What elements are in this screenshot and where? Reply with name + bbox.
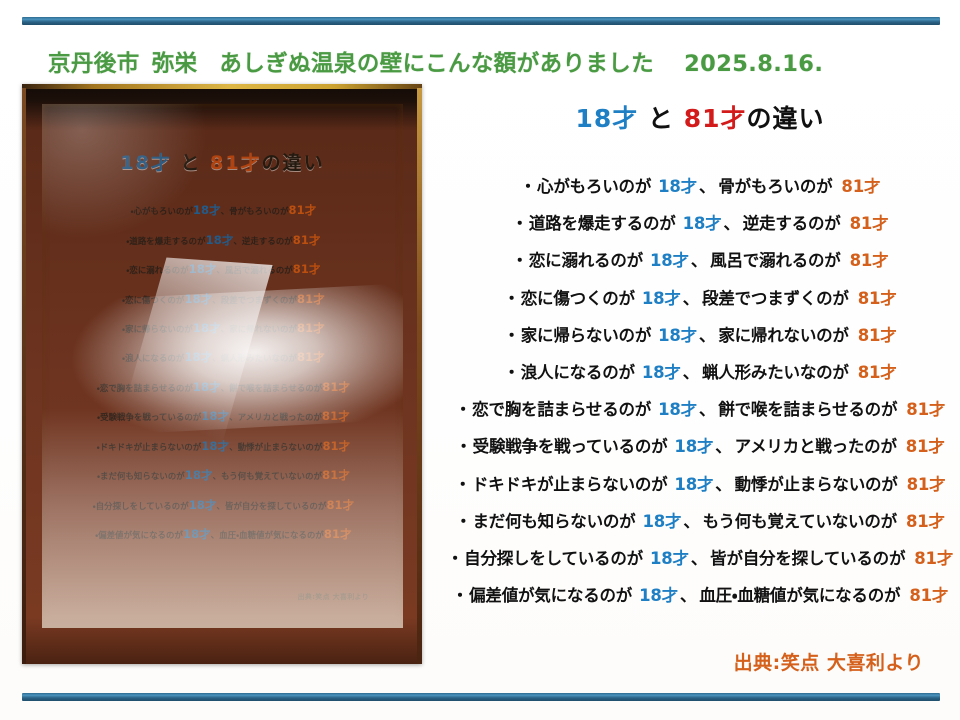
poster-line-row: ・道路を爆走するのが18才、逆走するのが81才 [54, 225, 393, 253]
poster-line-row: ・浪人になるのが18才、蝋人形みたいなのが81才 [54, 343, 393, 371]
transcription-line-old-age: 81才 [900, 577, 948, 614]
transcription-line-old-age: 81才 [849, 317, 897, 354]
transcription-line-separator: 、 [715, 466, 734, 503]
transcription-line-old-text: 風呂で溺れるのが [710, 242, 840, 279]
poster-line-old-text: 血圧・血糖値が気になるのが [219, 530, 324, 540]
transcription-line-bullet: ・ [520, 168, 536, 205]
poster-line-young-text: 恋に傷つくのが [125, 295, 184, 305]
transcription-line-bullet: ・ [512, 242, 528, 279]
transcription-line-old-age: 81才 [841, 242, 889, 279]
poster-line-old-age: 81才 [322, 439, 350, 453]
transcription-line-separator: 、 [699, 317, 718, 354]
transcription-line-row: ・まだ何も知らないのが18才、もう何も覚えていないのが81才 [440, 503, 960, 540]
poster-line-separator: 、 [211, 530, 219, 540]
page-title: 京丹後市弥栄あしぎぬ温泉の壁にこんな額がありました2025.8.16. [48, 46, 928, 78]
poster-line-row: ・まだ何も知らないのが18才、もう何も覚えていないのが81才 [54, 461, 393, 489]
transcription-line-separator: 、 [683, 503, 702, 540]
transcription-line-old-age: 81才 [897, 391, 945, 428]
poster-line-young-text: 道路を爆走するのが [129, 236, 205, 246]
transcription-line-old-text: 家に帰れないのが [718, 317, 848, 354]
transcription-line-young-text: 受験戦争を戦っているのが [473, 428, 668, 465]
poster-line-young-text: 偏差値が気になるのが [98, 530, 183, 540]
poster-title-old: 81才 [210, 152, 261, 174]
transcription-line-bullet: ・ [447, 540, 463, 577]
transcription-line-row: ・道路を爆走するのが18才、逆走するのが81才 [440, 205, 960, 242]
transcription-line-bullet: ・ [455, 391, 471, 428]
poster-line-separator: 、 [221, 324, 229, 334]
poster-line-old-text: 餅で喉を詰まらせるのが [229, 383, 322, 393]
transcription-line-young-age: 18才 [643, 242, 691, 279]
poster-line-row: ・受験戦争を戦っているのが18才、アメリカと戦ったのが81才 [54, 402, 393, 430]
transcription-line-young-age: 18才 [632, 577, 680, 614]
transcription-line-old-age: 81才 [841, 205, 889, 242]
transcription-line-row: ・恋に傷つくのが18才、段差でつまずくのが81才 [440, 280, 960, 317]
poster-line-old-age: 81才 [326, 498, 354, 512]
poster-line-young-text: 家に帰らないのが [125, 324, 193, 334]
poster-line-old-text: 風呂で溺れるのが [225, 265, 293, 275]
poster-line-old-text: もう何も覚えていないのが [221, 471, 322, 481]
poster-paper: 18才 と 81才の違い ・心がもろいのが18才、骨がもろいのが81才・道路を爆… [42, 104, 403, 628]
transcription-line-bullet: ・ [503, 280, 519, 317]
poster-line-old-age: 81才 [297, 350, 325, 364]
poster-line-old-text: 骨がもろいのが [229, 206, 288, 216]
transcription-title-tail: の違い [747, 104, 825, 133]
poster-line-young-text: 浪人になるのが [125, 353, 184, 363]
poster-line-old-age: 81才 [322, 380, 350, 394]
poster-line-young-age: 18才 [184, 292, 212, 306]
poster-line-young-age: 18才 [201, 439, 229, 453]
transcription-line-young-age: 18才 [651, 391, 699, 428]
poster-line-list: ・心がもろいのが18才、骨がもろいのが81才・道路を爆走するのが18才、逆走する… [54, 196, 393, 548]
transcription-line-separator: 、 [699, 168, 718, 205]
poster-line-old-text: 動悸が止まらないのが [238, 442, 323, 452]
poster-line-young-age: 18才 [193, 380, 221, 394]
transcription-line-young-text: 浪人になるのが [521, 354, 635, 391]
frame-right-edge [417, 88, 422, 664]
transcription-line-young-age: 18才 [676, 205, 724, 242]
transcription-line-young-text: ドキドキが止まらないのが [472, 466, 668, 503]
poster-line-old-age: 81才 [322, 468, 350, 482]
poster-line-young-age: 18才 [193, 203, 221, 217]
transcription-line-old-text: アメリカと戦ったのが [735, 428, 897, 465]
poster-line-old-text: 逆走するのが [242, 236, 293, 246]
poster-line-old-text: 家に帰れないのが [229, 324, 297, 334]
transcription-line-row: ・家に帰らないのが18才、家に帰れないのが81才 [440, 317, 960, 354]
poster-line-separator: 、 [221, 383, 229, 393]
poster-line-young-age: 18才 [201, 409, 229, 423]
transcription-line-young-age: 18才 [643, 540, 691, 577]
poster-line-old-text: 皆が自分を探しているのが [225, 501, 326, 511]
poster-line-old-age: 81才 [322, 409, 350, 423]
transcription-line-young-age: 18才 [635, 280, 683, 317]
transcription-line-old-age: 81才 [898, 466, 946, 503]
poster-line-young-text: 心がもろいのが [134, 206, 193, 216]
poster-line-young-text: 受験戦争を戦っているのが [100, 412, 201, 422]
poster-line-young-age: 18才 [185, 468, 213, 482]
transcription-line-old-text: 動悸が止まらないのが [735, 466, 898, 503]
poster-line-row: ・偏差値が気になるのが18才、血圧・血糖値が気になるのが81才 [54, 520, 393, 548]
transcription-line-row: ・受験戦争を戦っているのが18才、アメリカと戦ったのが81才 [440, 428, 960, 465]
transcription-line-old-text: 皆が自分を探しているのが [710, 540, 905, 577]
poster-line-old-age: 81才 [297, 292, 325, 306]
transcription-line-separator: 、 [691, 242, 710, 279]
poster-line-row: ・心がもろいのが18才、骨がもろいのが81才 [54, 196, 393, 224]
transcription-line-separator: 、 [680, 577, 699, 614]
heading-area: 弥栄 [152, 51, 198, 77]
poster-title-tail: の違い [262, 152, 325, 174]
poster-line-old-age: 81才 [324, 527, 352, 541]
poster-line-young-text: ドキドキが止まらないのが [100, 442, 202, 452]
transcription-line-old-age: 81才 [832, 168, 880, 205]
transcription-line-separator: 、 [699, 391, 718, 428]
poster-line-row: ・恋に傷つくのが18才、段差でつまずくのが81才 [54, 284, 393, 312]
poster-line-separator: 、 [229, 442, 237, 452]
transcription-line-separator: 、 [683, 354, 702, 391]
transcription-line-young-age: 18才 [651, 168, 699, 205]
poster-line-separator: 、 [229, 412, 237, 422]
transcription-line-bullet: ・ [455, 503, 471, 540]
transcription-line-old-text: 骨がもろいのが [718, 168, 832, 205]
poster-title-young: 18才 [120, 152, 171, 174]
poster-line-row: ・恋に溺れるのが18才、風呂で溺れるのが81才 [54, 255, 393, 283]
poster-title: 18才 と 81才の違い [42, 148, 403, 175]
poster-line-row: ・恋で胸を詰まらせるのが18才、餅で喉を詰まらせるのが81才 [54, 373, 393, 401]
poster-line-separator: 、 [213, 471, 221, 481]
poster-line-separator: 、 [216, 265, 224, 275]
slide-canvas: 京丹後市弥栄あしぎぬ温泉の壁にこんな額がありました2025.8.16. 18才 … [0, 0, 960, 720]
transcription-line-young-text: 偏差値が気になるのが [469, 577, 632, 614]
transcription-line-young-age: 18才 [667, 428, 715, 465]
transcription-line-young-text: 恋に溺れるのが [529, 242, 643, 279]
heading-date: 2025.8.16. [684, 51, 823, 77]
poster-line-old-age: 81才 [293, 233, 321, 247]
poster-line-old-text: アメリカと戦ったのが [238, 412, 322, 422]
transcription-line-old-text: 血圧・血糖値が気になるのが [699, 577, 900, 614]
transcription-line-young-age: 18才 [651, 317, 699, 354]
poster-line-young-age: 18才 [183, 527, 211, 541]
poster-line-separator: 、 [217, 501, 225, 511]
transcription-line-young-age: 18才 [635, 354, 683, 391]
transcription-line-separator: 、 [683, 280, 702, 317]
transcription-line-old-age: 81才 [849, 354, 897, 391]
poster-line-old-text: 段差でつまずくのが [221, 295, 297, 305]
transcription-line-row: ・偏差値が気になるのが18才、血圧・血糖値が気になるのが81才 [440, 577, 960, 614]
poster-line-old-age: 81才 [293, 262, 321, 276]
top-accent-rule [22, 17, 940, 25]
frame-top-lip [22, 84, 422, 89]
transcription-line-young-age: 18才 [635, 503, 683, 540]
transcription-line-young-text: 恋で胸を詰まらせるのが [472, 391, 651, 428]
transcription-title-conj: と [648, 104, 674, 133]
poster-credit: 出典:笑点 大喜利より [298, 592, 369, 602]
poster-line-row: ・自分探しをしているのが18才、皆が自分を探しているのが81才 [54, 490, 393, 518]
transcription-line-young-text: まだ何も知らないのが [472, 503, 635, 540]
transcription-line-row: ・ドキドキが止まらないのが18才、動悸が止まらないのが81才 [440, 466, 960, 503]
poster-line-row: ・ドキドキが止まらないのが18才、動悸が止まらないのが81才 [54, 432, 393, 460]
transcription-line-old-age: 81才 [897, 428, 945, 465]
transcription-line-bullet: ・ [512, 205, 528, 242]
transcription-line-bullet: ・ [455, 428, 471, 465]
poster-line-young-age: 18才 [189, 498, 217, 512]
transcription-line-young-text: 家に帰らないのが [521, 317, 651, 354]
transcription-title: 18才 と 81才の違い [440, 99, 960, 135]
heading-body: あしぎぬ温泉の壁にこんな額がありました [219, 51, 654, 77]
poster-line-old-age: 81才 [289, 203, 317, 217]
transcription-line-young-text: 道路を爆走するのが [529, 205, 676, 242]
poster-line-young-age: 18才 [193, 321, 221, 335]
transcription-line-old-text: もう何も覚えていないのが [703, 503, 897, 540]
poster-line-separator: 、 [212, 295, 220, 305]
poster-line-row: ・家に帰らないのが18才、家に帰れないのが81才 [54, 314, 393, 342]
source-attribution: 出典:笑点 大喜利より [734, 648, 924, 675]
poster-line-old-text: 蝋人形みたいなのが [221, 353, 297, 363]
transcription-line-row: ・浪人になるのが18才、蝋人形みたいなのが81才 [440, 354, 960, 391]
bottom-accent-rule [22, 693, 940, 701]
poster-line-young-age: 18才 [189, 262, 217, 276]
transcription-line-row: ・心がもろいのが18才、骨がもろいのが81才 [440, 168, 960, 205]
transcription-line-old-text: 逆走するのが [743, 205, 841, 242]
transcription-line-young-text: 心がもろいのが [537, 168, 651, 205]
transcription-line-old-text: 餅で喉を詰まらせるのが [718, 391, 897, 428]
transcription-line-old-age: 81才 [905, 540, 953, 577]
poster-title-conj: と [180, 152, 201, 174]
transcription-line-bullet: ・ [455, 466, 471, 503]
transcription-line-row: ・恋に溺れるのが18才、風呂で溺れるのが81才 [440, 242, 960, 279]
poster-line-young-text: 自分探しをしているのが [96, 501, 189, 511]
poster-line-separator: 、 [233, 236, 241, 246]
transcription-line-young-text: 自分探しをしているのが [464, 540, 643, 577]
transcription-line-row: ・自分探しをしているのが18才、皆が自分を探しているのが81才 [440, 540, 960, 577]
transcription-line-bullet: ・ [503, 354, 519, 391]
framed-poster-photo: 18才 と 81才の違い ・心がもろいのが18才、骨がもろいのが81才・道路を爆… [22, 84, 422, 664]
transcription-line-old-text: 蝋人形みたいなのが [702, 354, 849, 391]
transcription-line-old-age: 81才 [897, 503, 945, 540]
transcription-title-old: 81才 [684, 104, 747, 133]
transcription-line-old-text: 段差でつまずくのが [702, 280, 849, 317]
transcription-line-list: ・心がもろいのが18才、骨がもろいのが81才・道路を爆走するのが18才、逆走する… [440, 168, 960, 614]
transcription-line-bullet: ・ [503, 317, 519, 354]
poster-line-young-text: まだ何も知らないのが [100, 471, 185, 481]
poster-line-separator: 、 [212, 353, 220, 363]
transcription-line-young-text: 恋に傷つくのが [521, 280, 635, 317]
transcription-line-separator: 、 [715, 428, 734, 465]
heading-city: 京丹後市 [48, 51, 140, 77]
transcription-title-young: 18才 [575, 104, 638, 133]
poster-line-young-text: 恋で胸を詰まらせるのが [100, 383, 193, 393]
transcription-line-old-age: 81才 [849, 280, 897, 317]
poster-line-old-age: 81才 [297, 321, 325, 335]
transcription-line-separator: 、 [723, 205, 742, 242]
poster-line-young-text: 恋に溺れるのが [129, 265, 188, 275]
poster-line-young-age: 18才 [206, 233, 234, 247]
frame-left-edge [22, 88, 26, 664]
poster-line-separator: 、 [221, 206, 229, 216]
transcription-line-bullet: ・ [452, 577, 468, 614]
transcription-line-row: ・恋で胸を詰まらせるのが18才、餅で喉を詰まらせるのが81才 [440, 391, 960, 428]
transcription-line-separator: 、 [691, 540, 710, 577]
transcription-line-young-age: 18才 [667, 466, 715, 503]
poster-line-young-age: 18才 [184, 350, 212, 364]
